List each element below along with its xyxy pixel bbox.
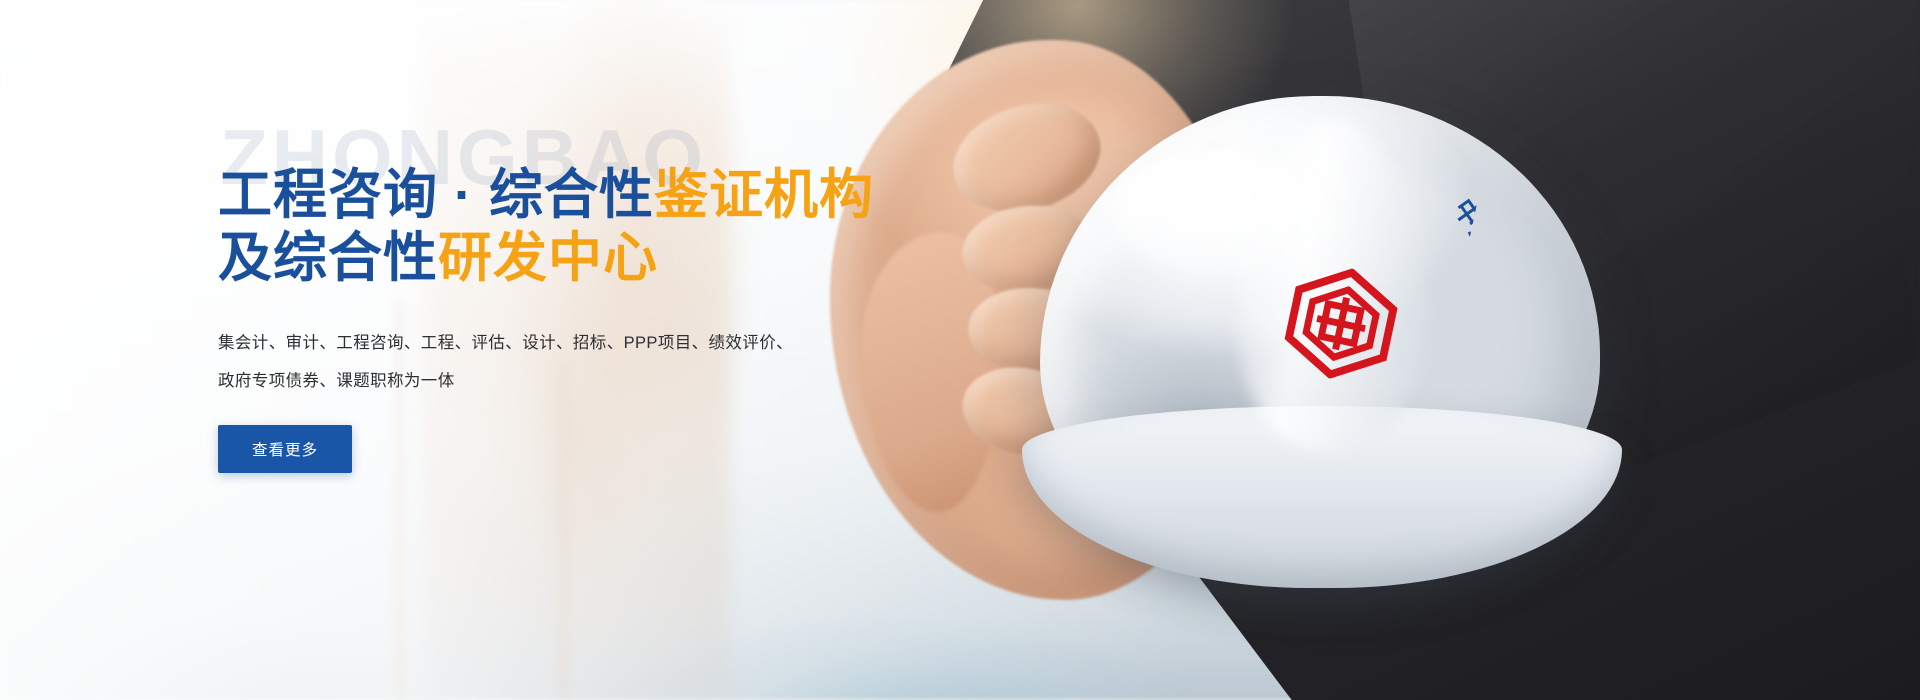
headline-line-1: 工程咨询 · 综合性鉴证机构 [218,164,918,227]
headline-line-2-primary: 及综合性 [218,228,438,288]
hero-banner: 中宝工程管理 ZHONGBAO 工程咨询 · 综合性鉴证机构 及综合性研发中心 … [0,0,1920,700]
hero-description: 集会计、审计、工程咨询、工程、评估、设计、招标、PPP项目、绩效评价、 政府专项… [218,325,918,401]
headline-line-1-accent: 鉴证机构 [654,165,874,225]
description-line-1: 集会计、审计、工程咨询、工程、评估、设计、招标、PPP项目、绩效评价、 [218,325,918,363]
headline-line-1-primary: 工程咨询 · 综合性 [218,165,654,225]
headline-line-2-accent: 研发中心 [438,228,658,288]
company-logo-icon [1277,258,1406,390]
hero-content: ZHONGBAO 工程咨询 · 综合性鉴证机构 及综合性研发中心 集会计、审计、… [218,118,918,473]
view-more-button[interactable]: 查看更多 [218,425,352,473]
headline-line-2: 及综合性研发中心 [218,227,918,290]
description-line-2: 政府专项债券、课题职称为一体 [218,363,918,401]
page-title: 工程咨询 · 综合性鉴证机构 及综合性研发中心 [218,164,918,289]
